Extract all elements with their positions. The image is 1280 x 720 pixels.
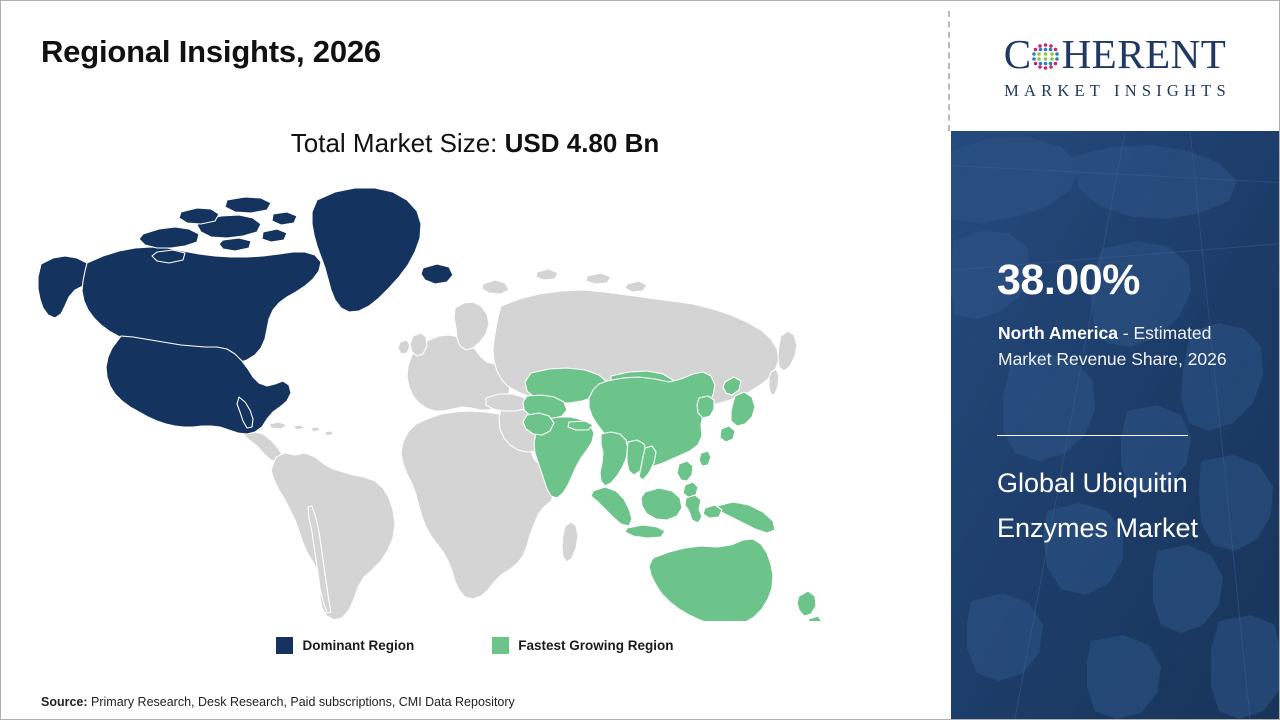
map-legend: Dominant Region Fastest Growing Region xyxy=(1,637,949,654)
panel-text-content: 38.00% North America - Estimated Market … xyxy=(951,131,1279,719)
source-label: Source: xyxy=(41,695,88,709)
legend-item-fastest-growing: Fastest Growing Region xyxy=(492,637,673,654)
logo-letter-c: C xyxy=(1004,34,1032,75)
total-market-size-label: Total Market Size: xyxy=(291,128,505,158)
vertical-dashed-divider xyxy=(948,11,950,131)
logo-wordmark: C xyxy=(1004,31,1227,77)
map-fastest-growing-regions xyxy=(523,368,823,621)
market-report-name: Global Ubiquitin Enzymes Market xyxy=(997,461,1257,552)
legend-label-dominant: Dominant Region xyxy=(302,638,414,653)
logo-subtitle: MARKET INSIGHTS xyxy=(999,81,1231,101)
legend-label-fastest-growing: Fastest Growing Region xyxy=(518,638,673,653)
stat-percent-value: 38.00% xyxy=(997,259,1140,302)
right-sidebar: C xyxy=(951,1,1279,719)
page-title: Regional Insights, 2026 xyxy=(41,34,381,70)
total-market-size-value: USD 4.80 Bn xyxy=(505,128,660,158)
stat-description: North America - Estimated Market Revenue… xyxy=(998,321,1248,373)
stat-panel: 38.00% North America - Estimated Market … xyxy=(951,131,1279,719)
regional-insights-infographic: Regional Insights, 2026 Total Market Siz… xyxy=(0,0,1280,720)
main-content-area: Regional Insights, 2026 Total Market Siz… xyxy=(1,1,949,719)
legend-swatch-dominant xyxy=(276,637,293,654)
legend-item-dominant: Dominant Region xyxy=(276,637,414,654)
source-note: Source: Primary Research, Desk Research,… xyxy=(41,695,515,709)
panel-divider xyxy=(997,435,1188,436)
logo-letters-herent: HERENT xyxy=(1062,34,1227,75)
legend-swatch-fastest-growing xyxy=(492,637,509,654)
world-map xyxy=(31,176,861,621)
brand-logo: C xyxy=(951,1,1279,131)
map-dominant-regions xyxy=(38,188,453,434)
globe-dots-icon xyxy=(1030,41,1061,72)
source-text: Primary Research, Desk Research, Paid su… xyxy=(88,695,515,709)
stat-region-name: North America xyxy=(998,323,1118,343)
total-market-size: Total Market Size: USD 4.80 Bn xyxy=(1,128,949,159)
